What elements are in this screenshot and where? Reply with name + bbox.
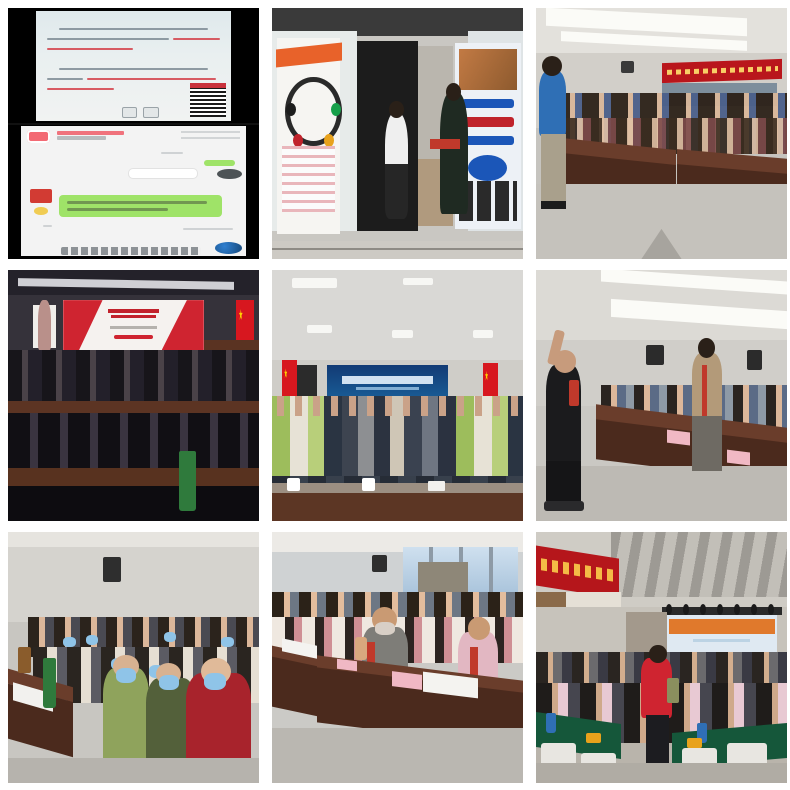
speaker-box-icon	[646, 345, 664, 365]
collage-cell-4[interactable]	[8, 270, 259, 521]
water-bottle	[179, 451, 197, 511]
sender-name	[57, 131, 125, 135]
applause-photo	[272, 532, 523, 783]
photo-collage-grid	[0, 0, 790, 790]
presenter-figure	[38, 300, 51, 350]
poster-left	[277, 38, 340, 234]
collage-cell-7[interactable]	[8, 532, 259, 783]
collage-cell-8[interactable]	[272, 532, 523, 783]
speaker-figure	[539, 71, 567, 136]
stage-light-truss	[662, 607, 782, 615]
national-flag	[236, 300, 254, 345]
microphone-icon	[569, 380, 579, 405]
qr-code-icon	[190, 83, 225, 117]
front-participant-uniform	[103, 668, 148, 768]
sticker-icon[interactable]	[217, 169, 242, 179]
chat-bubble-sent[interactable]	[204, 160, 236, 167]
red-banner	[662, 59, 782, 83]
conference-hall-photo	[536, 532, 787, 783]
auditorium-photo	[8, 270, 259, 521]
group-photo	[272, 270, 523, 521]
chat-bubble-received[interactable]	[129, 169, 197, 178]
collage-cell-9[interactable]	[536, 532, 787, 783]
chat-bubble-long[interactable]	[59, 195, 222, 217]
globe-avatar-icon	[215, 242, 242, 254]
avatar	[27, 130, 50, 143]
chat-screenshot	[8, 8, 259, 259]
name-tent	[392, 671, 422, 690]
interaction-photo	[536, 270, 787, 521]
collage-cell-2[interactable]	[272, 8, 523, 259]
message-input[interactable]	[61, 247, 201, 255]
action-icons[interactable]	[181, 131, 240, 141]
person-dark-suit	[440, 93, 468, 213]
sender-subtitle	[57, 136, 107, 139]
collage-cell-3[interactable]	[536, 8, 787, 259]
red-packet-icon[interactable]	[30, 189, 53, 203]
wall-speaker-icon	[103, 557, 121, 582]
stage-screen	[667, 615, 777, 658]
collage-cell-5[interactable]	[272, 270, 523, 521]
masked-audience-photo	[8, 532, 259, 783]
name-tent	[667, 429, 690, 444]
collage-cell-6[interactable]	[536, 270, 787, 521]
entrance-photo	[272, 8, 523, 259]
collage-cell-1[interactable]	[8, 8, 259, 259]
handbag	[667, 678, 680, 703]
thermos	[18, 647, 31, 672]
chat-thread[interactable]	[21, 126, 247, 257]
lecture-photo	[536, 8, 787, 259]
projection-screen	[63, 300, 204, 350]
lanyard	[702, 365, 707, 415]
clapping-hands	[355, 637, 368, 660]
document-image	[36, 11, 232, 121]
wall-speaker-icon	[372, 555, 387, 573]
emoji-icon	[34, 207, 48, 215]
